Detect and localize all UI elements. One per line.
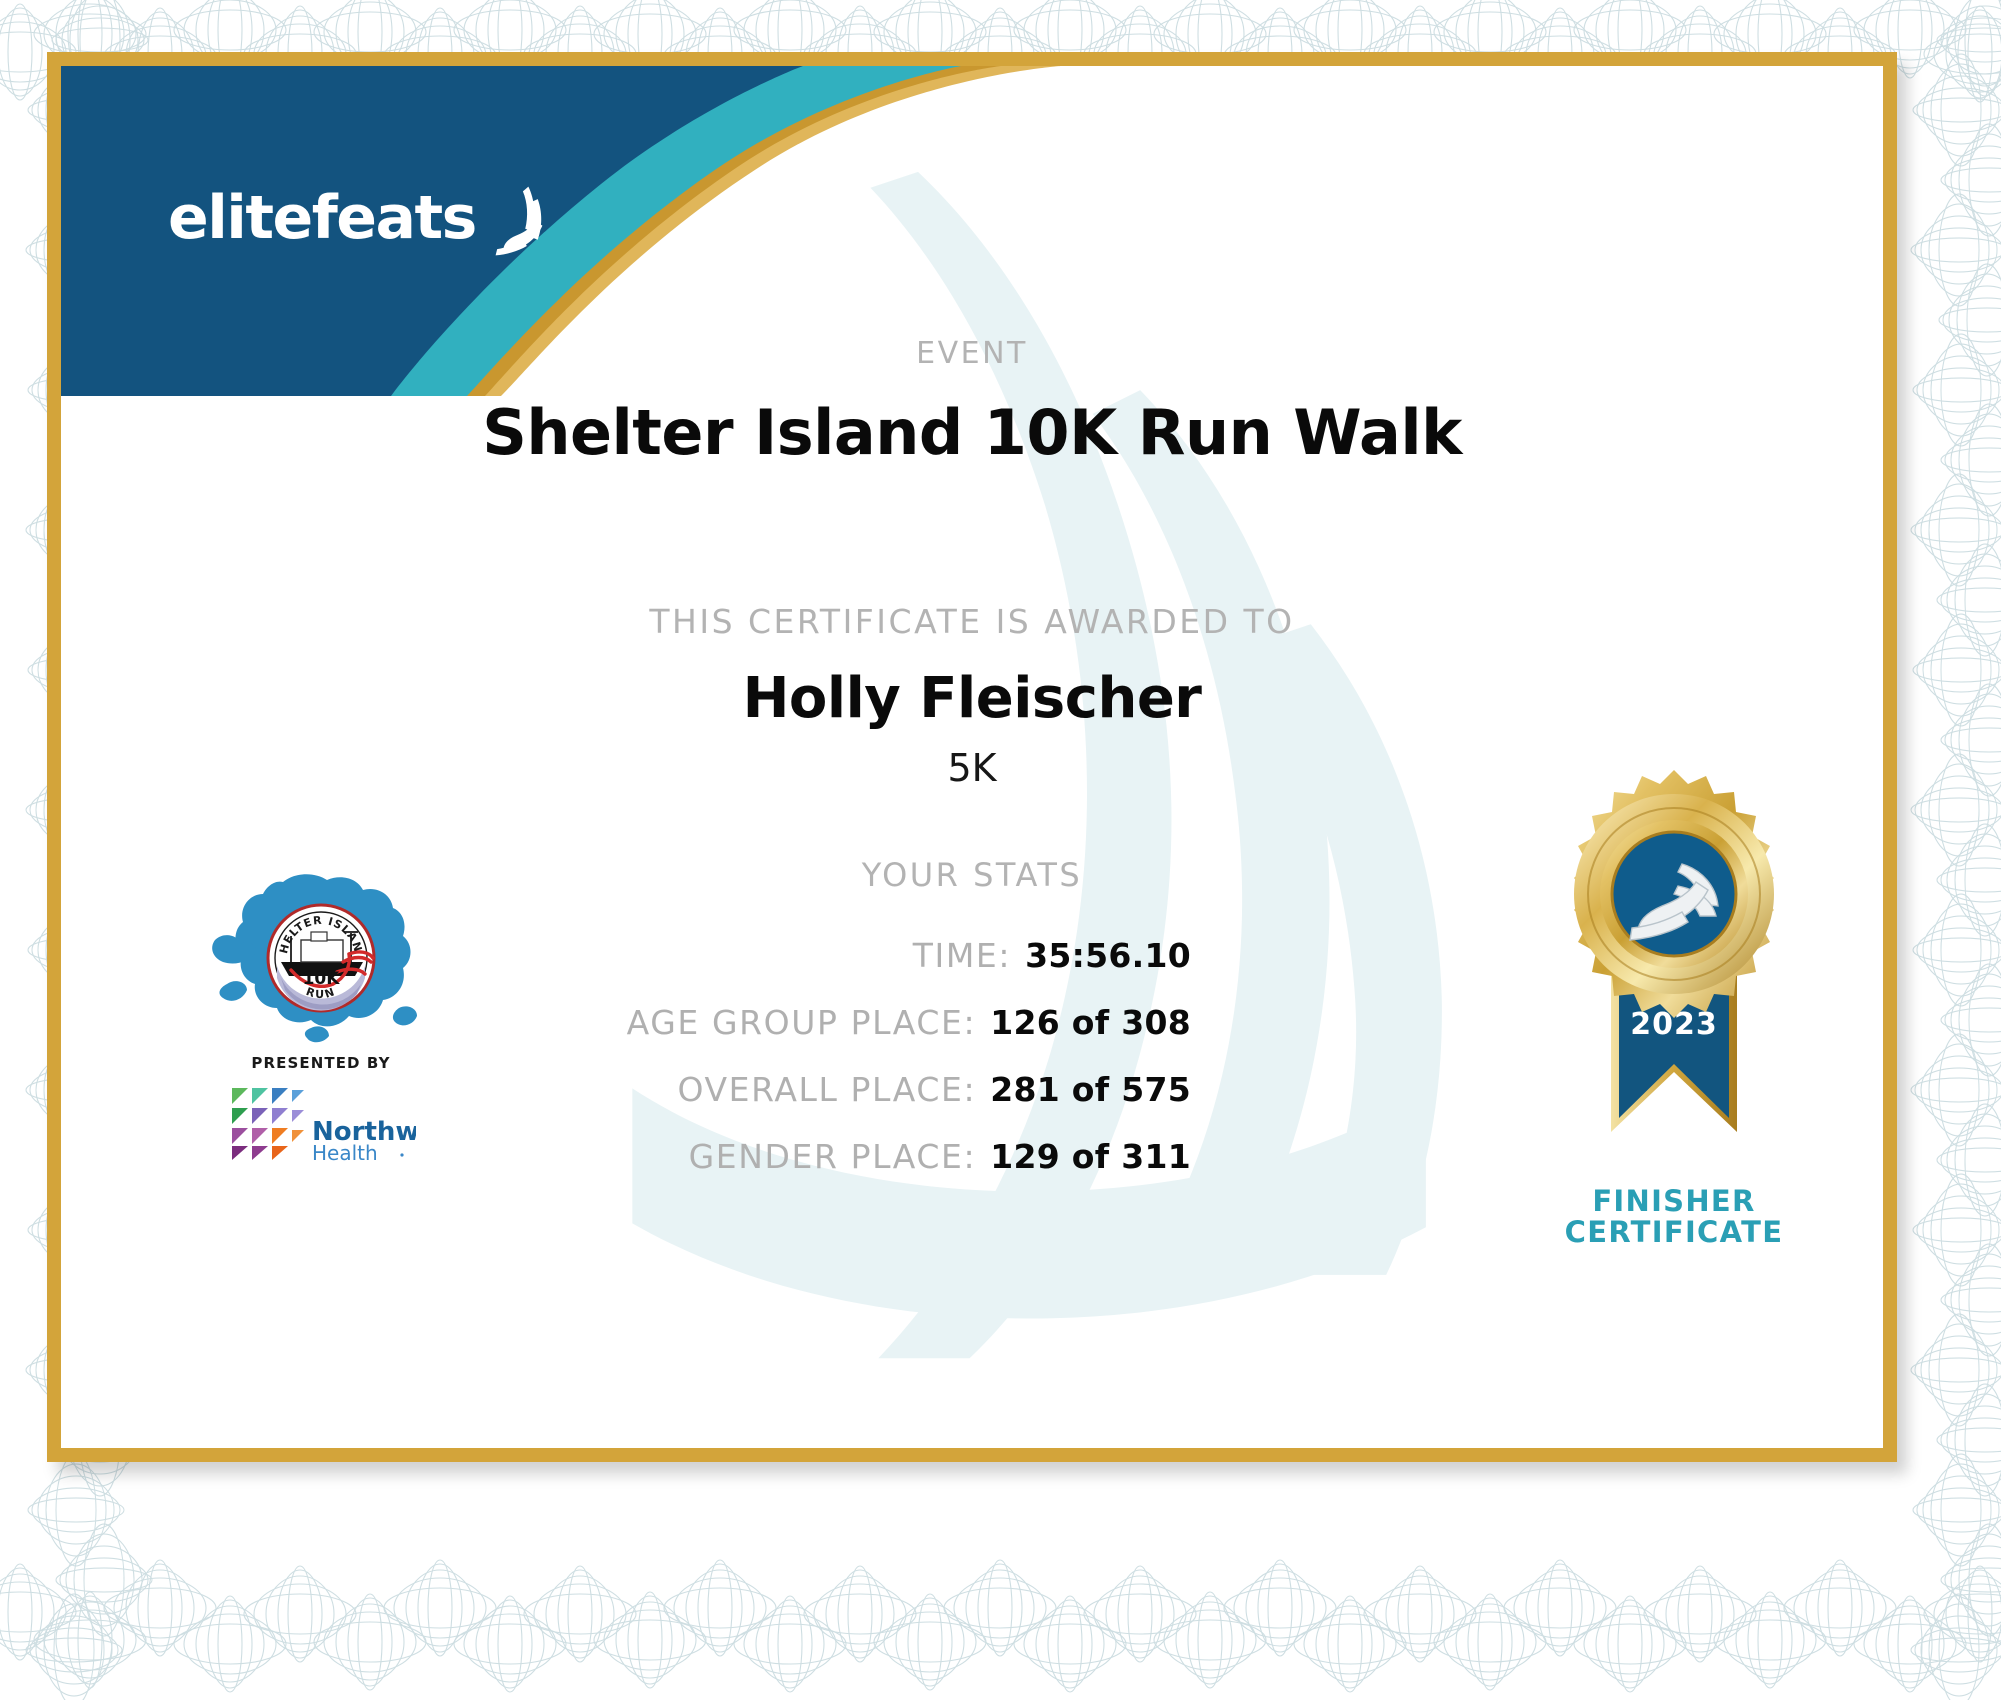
northwell-health-logo-icon: Northwell Health <box>226 1078 416 1162</box>
stat-label: OVERALL PLACE: <box>678 1070 977 1109</box>
finisher-medal-icon: 2023 <box>1539 766 1809 1186</box>
recipient-name: Holly Fleischer <box>61 666 1883 731</box>
presented-by-label: PRESENTED BY <box>161 1054 481 1072</box>
event-name: Shelter Island 10K Run Walk <box>61 396 1883 469</box>
stat-label: TIME: <box>913 936 1011 975</box>
stat-value: 281 of 575 <box>990 1070 1191 1109</box>
finisher-caption-line2: CERTIFICATE <box>1539 1217 1809 1248</box>
finisher-caption-line1: FINISHER <box>1539 1186 1809 1217</box>
shelter-island-10k-run-logo-icon: SHELTER ISLAND RUN 10K <box>191 866 451 1046</box>
stat-value: 129 of 311 <box>990 1137 1191 1176</box>
elitefeats-logo: elitefeats <box>168 176 558 260</box>
finisher-medal-block: 2023 FINISHER CERTIFICATE <box>1539 766 1809 1249</box>
race-logo-block: SHELTER ISLAND RUN 10K PRESENTED BY <box>161 866 481 1162</box>
stat-label: AGE GROUP PLACE: <box>627 1003 977 1042</box>
stat-value: 126 of 308 <box>990 1003 1191 1042</box>
elitefeats-logo-text: elitefeats <box>168 188 476 248</box>
certificate-sheet: elitefeats EVENT Shelter Island 10K Run … <box>47 52 1897 1462</box>
stat-value: 35:56.10 <box>1025 936 1191 975</box>
stat-label: GENDER PLACE: <box>689 1137 977 1176</box>
event-label: EVENT <box>61 336 1883 371</box>
awarded-to-label: THIS CERTIFICATE IS AWARDED TO <box>61 602 1883 641</box>
winged-foot-icon <box>480 182 558 260</box>
svg-text:Health: Health <box>312 1141 378 1162</box>
svg-text:10K: 10K <box>303 969 341 989</box>
